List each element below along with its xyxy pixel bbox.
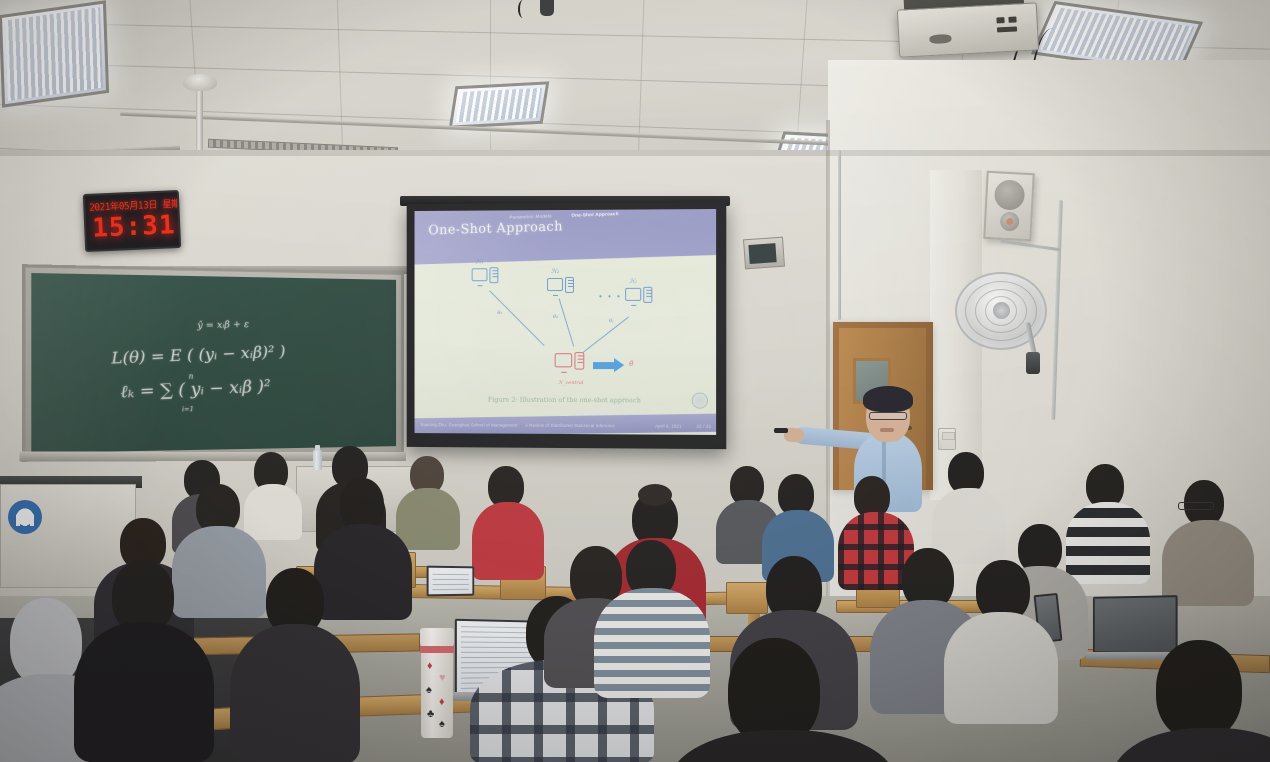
laptop-screen[interactable] (1093, 595, 1178, 655)
projector-lens (929, 34, 951, 44)
slide-node-1: ℋ₁ (472, 268, 500, 286)
green-chalkboard: ŷ = xᵢβ + ε L(θ) = E ( (yᵢ − xᵢβ)² ) ℓₖ … (31, 273, 396, 453)
ceiling-light-panel (449, 81, 550, 128)
projection-screen: Parametric Models One-Shot Approach One-… (407, 202, 727, 449)
ceiling-projector (897, 2, 1039, 57)
edge-j-label: θⱼ (609, 318, 613, 324)
thermos-bottle: ♦ ♥ ♠ ♦ ♣ ♠ (421, 630, 453, 738)
slide-edge-j (583, 316, 630, 353)
presentation-slide: Parametric Models One-Shot Approach One-… (415, 209, 717, 435)
slide-node-j: ℋⱼ (625, 288, 653, 306)
slide-caption: Figure 2: Illustration of the one-shot a… (415, 395, 717, 404)
slide-footer-center: A Review of Distributed Statistical Infe… (525, 423, 615, 429)
central-node-label: ℋ_central (558, 380, 583, 386)
thermos-band (420, 646, 454, 653)
slide-institution-logo (692, 392, 708, 408)
presenter-hair (863, 386, 913, 412)
node-2-label: ℋ₂ (551, 268, 559, 275)
fan-motor (1026, 352, 1040, 374)
slide-node-2: ℋ₂ (547, 278, 575, 296)
thermos-cap (420, 628, 454, 646)
node-j-label: ℋⱼ (629, 278, 637, 285)
laser-pointer[interactable] (774, 428, 788, 433)
edge-1-label: θ₁ (497, 310, 502, 316)
fan-hub (993, 302, 1010, 319)
blackboard-frame: ŷ = xᵢβ + ε L(θ) = E ( (yᵢ − xᵢβ)² ) ℓₖ … (22, 264, 404, 462)
slide-footer-page: 22 / 42 (697, 424, 711, 429)
ceiling-sensor (540, 0, 554, 16)
slide-footer-left: Xuening Zhu, Guanghua School of Manageme… (420, 422, 517, 428)
ceiling-dome-mount (183, 74, 217, 91)
slide-footer-date: April 8, 2021 (655, 424, 681, 429)
clock-time: 15:31:32 (92, 210, 182, 248)
slide-edge-1 (489, 290, 545, 346)
wall-display-unit (743, 237, 785, 270)
water-bottle (313, 450, 322, 470)
wall-conduit (838, 150, 841, 320)
led-wall-clock: 2021年05月13日 星期四 15:31:32 (83, 190, 181, 252)
classroom-photo: 2021年05月13日 星期四 15:31:32 ŷ = xᵢβ + ε L(θ… (0, 0, 1270, 762)
slide-edge-2 (558, 298, 574, 346)
slide-output-arrow (593, 362, 615, 369)
ceiling-light-panel (0, 0, 109, 107)
university-emblem (8, 500, 42, 534)
laptop-screen[interactable] (427, 566, 475, 597)
glasses-icon (1178, 502, 1214, 510)
chalk-sum-upper: n (189, 372, 194, 380)
chalk-sum-lower: i=1 (182, 406, 194, 413)
chalk-line-1: ŷ = xᵢβ + ε (197, 320, 249, 332)
slide-output-label: θ̄ (629, 360, 633, 368)
node-1-label: ℋ₁ (476, 258, 484, 265)
speaker-woofer (994, 179, 1026, 211)
glasses-icon (869, 412, 907, 420)
slide-central-node (555, 353, 586, 373)
edge-2-label: θ₂ (553, 314, 558, 320)
slide-ellipsis: • • • (599, 292, 622, 301)
wall-speaker (983, 171, 1034, 241)
chair-back (726, 582, 768, 614)
